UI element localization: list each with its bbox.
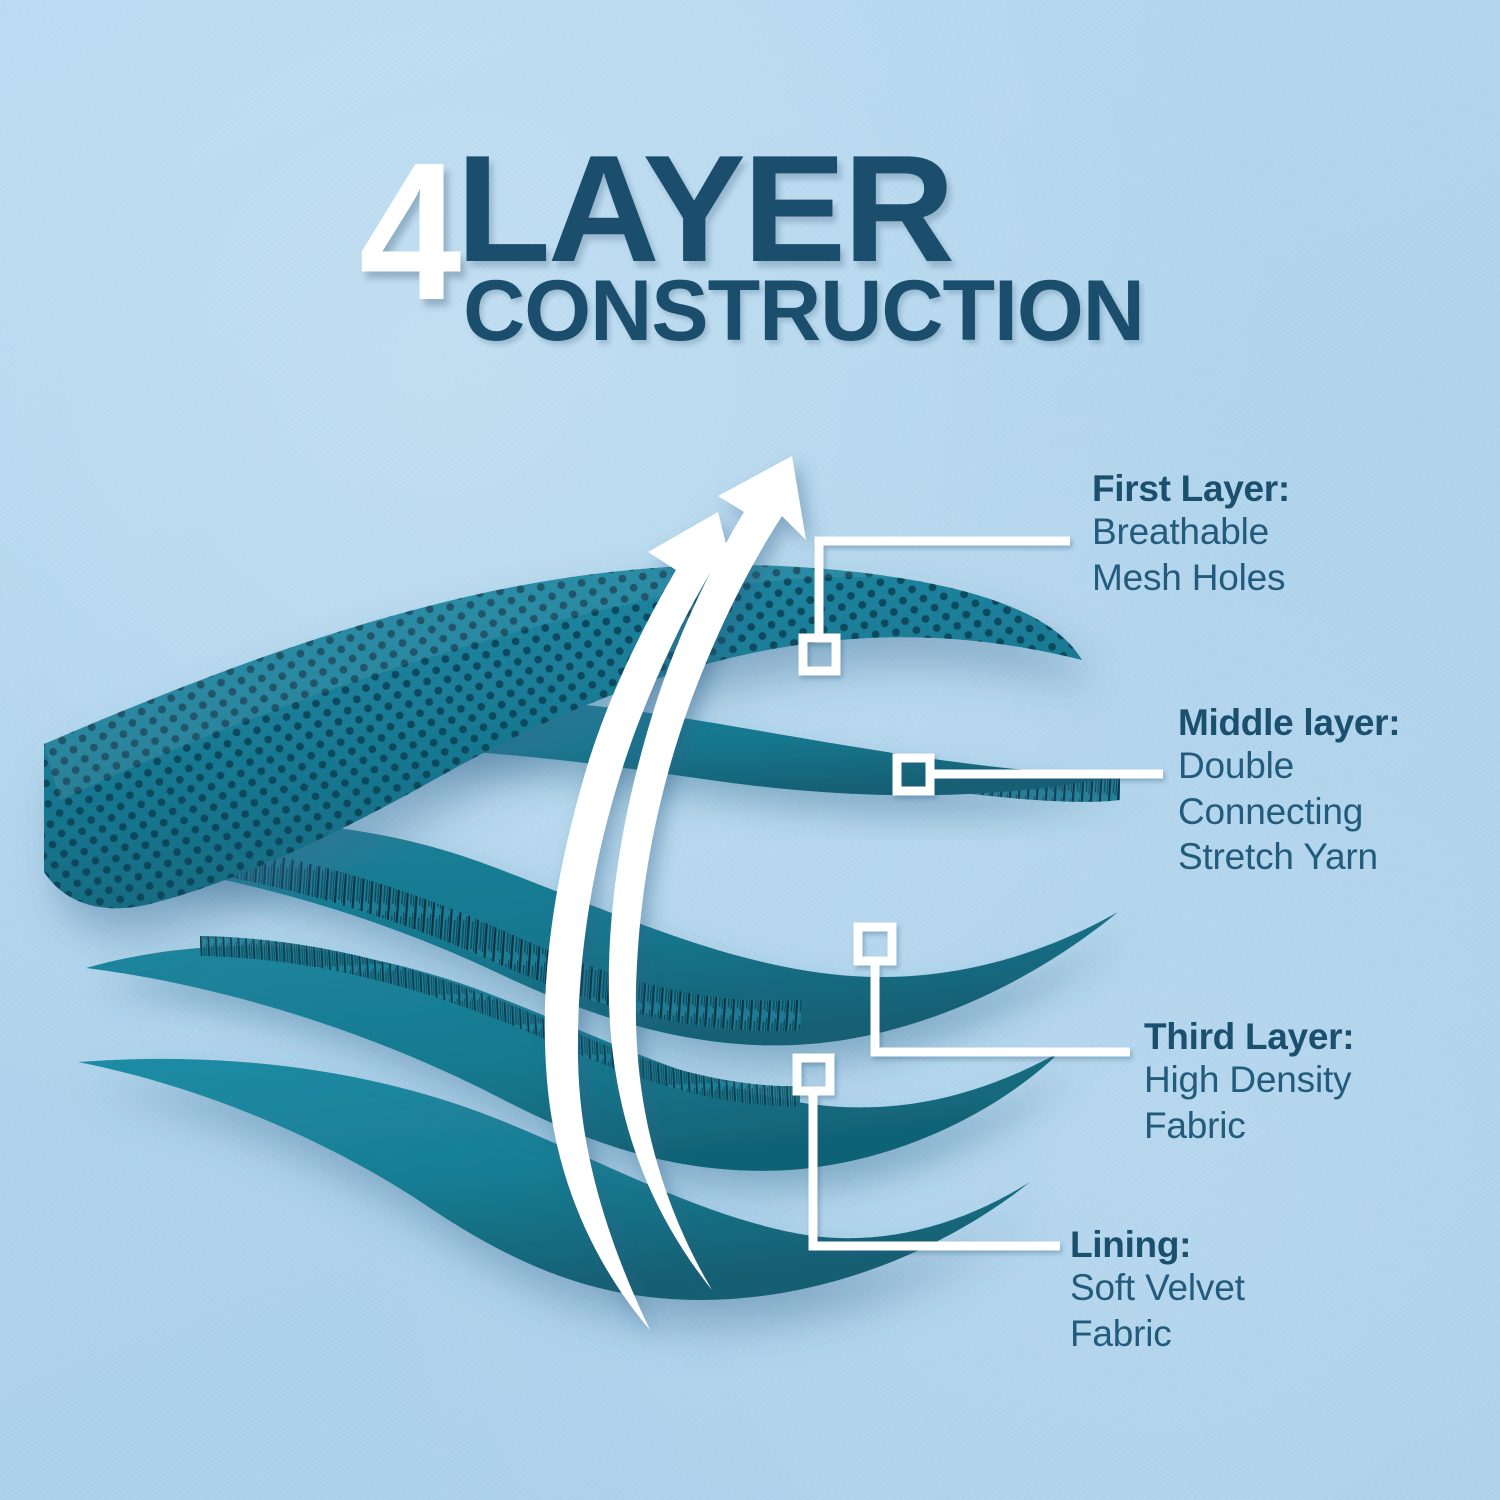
infographic-canvas: 4 LAYER CONSTRUCTION: [0, 0, 1500, 1500]
callout-first-heading: First Layer:: [1092, 468, 1290, 509]
square-marker-third: [858, 927, 892, 961]
callout-middle-body-line-2: Connecting: [1178, 789, 1400, 834]
callout-third-heading: Third Layer:: [1144, 1016, 1354, 1057]
callout-first-body-line-1: Breathable: [1092, 509, 1290, 554]
callout-lining-body-line-2: Fabric: [1070, 1311, 1245, 1356]
square-marker-lining: [797, 1058, 830, 1091]
callout-middle-heading: Middle layer:: [1178, 702, 1400, 743]
callout-middle-body-line-3: Stretch Yarn: [1178, 834, 1400, 879]
callout-middle-layer: Middle layer: Double Connecting Stretch …: [1178, 702, 1400, 879]
callout-third-body-line-2: Fabric: [1144, 1103, 1354, 1148]
callout-lining-heading: Lining:: [1070, 1224, 1245, 1265]
callout-lining-layer: Lining: Soft Velvet Fabric: [1070, 1224, 1245, 1356]
callout-third-layer: Third Layer: High Density Fabric: [1144, 1016, 1354, 1148]
callout-lining-body-line-1: Soft Velvet: [1070, 1265, 1245, 1310]
callout-third-body-line-1: High Density: [1144, 1057, 1354, 1102]
callout-first-layer: First Layer: Breathable Mesh Holes: [1092, 468, 1290, 600]
callout-middle-body-line-1: Double: [1178, 743, 1400, 788]
callout-first-body-line-2: Mesh Holes: [1092, 555, 1290, 600]
